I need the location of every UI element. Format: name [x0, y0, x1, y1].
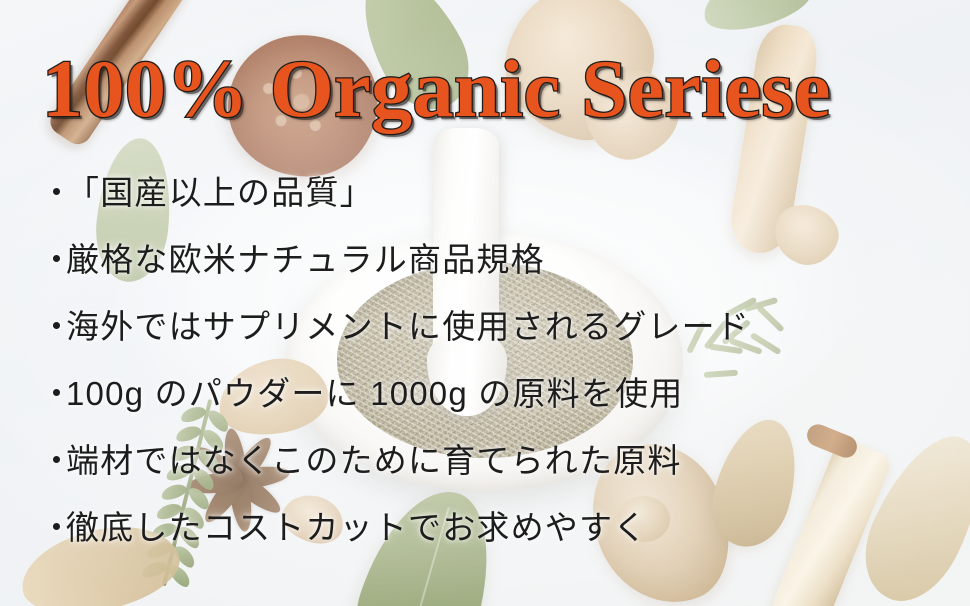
bullet-item-purpose-grown: ・ 端材ではなくこのために育てられた原料 — [40, 434, 940, 501]
bullet-marker-icon: ・ — [40, 176, 66, 209]
bullet-label: 端材ではなくこのために育てられた原料 — [66, 434, 682, 482]
bullet-item-concentration: ・ 100g のパウダーに 1000g の原料を使用 — [40, 367, 940, 434]
bullet-marker-icon: ・ — [40, 377, 66, 410]
bullet-label: 100g のパウダーに 1000g の原料を使用 — [66, 367, 683, 415]
headline-title: 100% Organic Seriese — [42, 48, 942, 130]
organic-series-banner: 100% Organic Seriese ・ 「国産以上の品質」 ・ 厳格な欧米… — [0, 0, 970, 606]
bullet-marker-icon: ・ — [40, 511, 66, 544]
bullet-label: 徹底したコストカットでお求めやすく — [66, 501, 647, 549]
bullet-marker-icon: ・ — [40, 444, 66, 477]
bullet-item-supplement-grade: ・ 海外ではサプリメントに使用されるグレード — [40, 300, 940, 367]
bullet-item-quality: ・ 「国産以上の品質」 — [40, 166, 940, 233]
bullet-label: 「国産以上の品質」 — [66, 166, 374, 214]
banner-content: 100% Organic Seriese ・ 「国産以上の品質」 ・ 厳格な欧米… — [0, 0, 970, 606]
bullet-label: 厳格な欧米ナチュラル商品規格 — [66, 233, 545, 281]
bullet-label: 海外ではサプリメントに使用されるグレード — [66, 300, 750, 348]
bullet-marker-icon: ・ — [40, 310, 66, 343]
bullet-item-cost-cut: ・ 徹底したコストカットでお求めやすく — [40, 501, 940, 568]
bullet-marker-icon: ・ — [40, 243, 66, 276]
bullet-item-standards: ・ 厳格な欧米ナチュラル商品規格 — [40, 233, 940, 300]
feature-bullet-list: ・ 「国産以上の品質」 ・ 厳格な欧米ナチュラル商品規格 ・ 海外ではサプリメン… — [40, 166, 940, 568]
